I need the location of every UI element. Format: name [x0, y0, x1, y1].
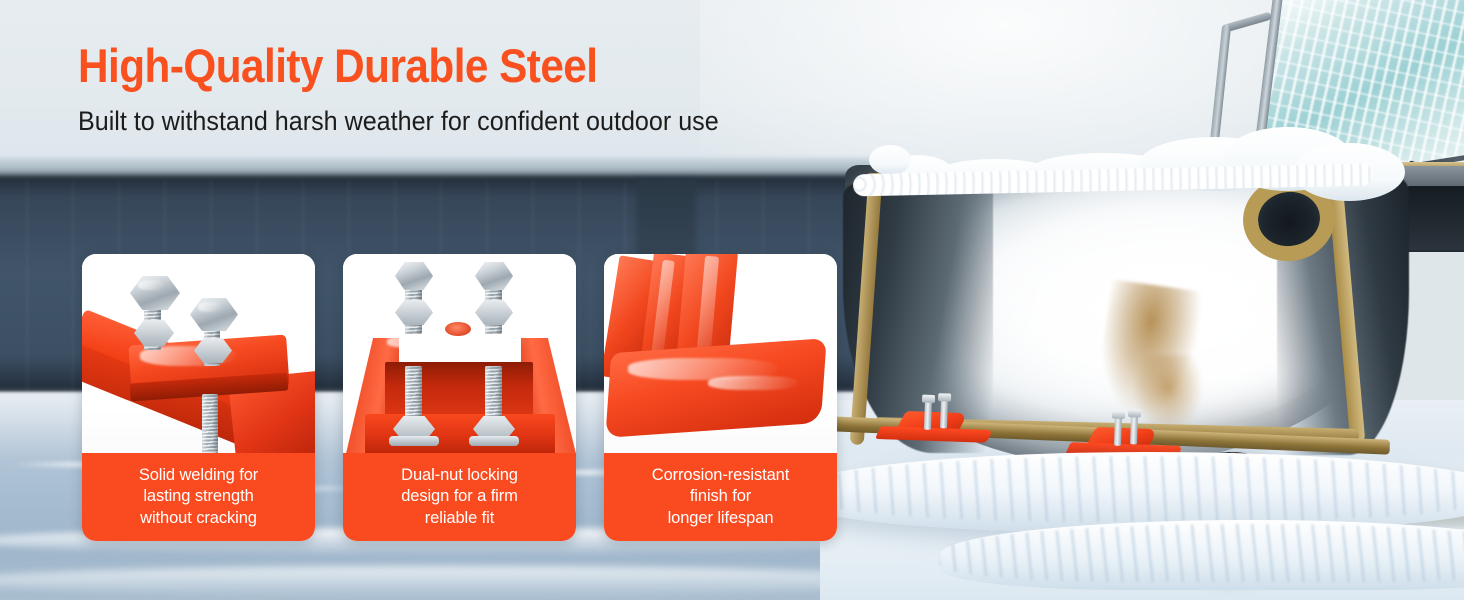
hex-bolt-head: [395, 262, 433, 290]
caption-line: without cracking: [140, 509, 257, 527]
weld-bead: [445, 322, 471, 336]
caption-line: Dual-nut locking: [401, 466, 518, 484]
caption-line: design for a firm: [401, 487, 518, 505]
caption-line: Corrosion-resistant: [652, 466, 789, 484]
skid-plate: [875, 426, 993, 443]
caption-line: finish for: [690, 487, 751, 505]
feature-photo-dual-nut-locking: [343, 254, 576, 453]
skid-bolt: [940, 398, 948, 428]
skid-shoe: [877, 410, 990, 448]
feature-card-dual-nut-locking[interactable]: Dual-nut locking design for a firm relia…: [343, 254, 576, 541]
snow-ridge-far: [0, 566, 940, 596]
feature-caption-solid-welding: Solid welding for lasting strength witho…: [82, 453, 315, 541]
washer: [469, 436, 519, 446]
mount-base-plate: [365, 414, 555, 453]
snow-bank-lower-texture: [940, 524, 1464, 582]
paint-gloss: [708, 376, 798, 390]
caption-line: longer lifespan: [668, 509, 774, 527]
paint-gloss: [387, 334, 527, 350]
feature-photo-solid-welding: [82, 254, 315, 453]
bolt-highlight: [198, 302, 222, 312]
bolt-thread-lower: [202, 394, 218, 453]
skid-bolt: [924, 400, 932, 430]
lock-nut-upper: [395, 300, 433, 325]
hex-bolt-head: [475, 262, 513, 290]
feature-photo-corrosion-resistant: [604, 254, 837, 453]
tractor-plow-scene: [820, 0, 1464, 600]
feature-caption-corrosion-resistant: Corrosion-resistant finish for longer li…: [604, 453, 837, 541]
skid-bolt: [1114, 416, 1122, 446]
lock-nut-upper: [475, 300, 513, 325]
page-subtitle: Built to withstand harsh weather for con…: [78, 106, 719, 137]
snow-bank-texture: [790, 456, 1464, 522]
caption-line: Solid welding for: [139, 466, 258, 484]
washer: [389, 436, 439, 446]
product-feature-banner: High-Quality Durable Steel Built to with…: [0, 0, 1464, 600]
feature-caption-dual-nut-locking: Dual-nut locking design for a firm relia…: [343, 453, 576, 541]
feature-card-corrosion-resistant[interactable]: Corrosion-resistant finish for longer li…: [604, 254, 837, 541]
caption-line: reliable fit: [425, 509, 494, 527]
feature-card-solid-welding[interactable]: Solid welding for lasting strength witho…: [82, 254, 315, 541]
feature-card-list: Solid welding for lasting strength witho…: [82, 254, 837, 541]
bolt-highlight: [138, 280, 164, 290]
skid-bolt: [1130, 414, 1138, 444]
mirror-arm: [1224, 12, 1272, 33]
caption-line: lasting strength: [143, 487, 253, 505]
page-title: High-Quality Durable Steel: [78, 42, 598, 90]
cab-interior: [1406, 186, 1464, 250]
